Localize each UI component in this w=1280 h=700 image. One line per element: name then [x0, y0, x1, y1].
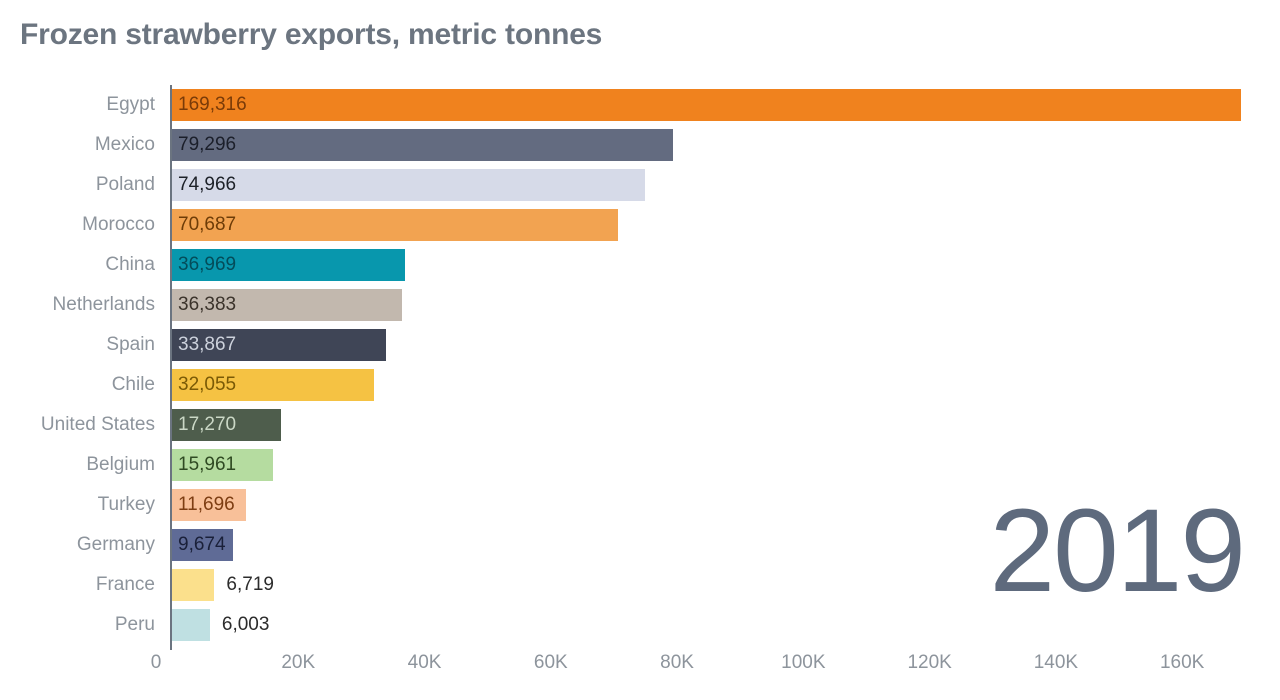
bar-value-label: 33,867 — [178, 329, 236, 361]
bar[interactable] — [172, 129, 673, 161]
bar[interactable] — [172, 169, 645, 201]
bar-value-label: 36,383 — [178, 289, 236, 321]
bar-value-label: 32,055 — [178, 369, 236, 401]
category-label: France — [0, 565, 155, 605]
bar-row[interactable]: China36,969 — [0, 245, 1280, 285]
category-label: Mexico — [0, 125, 155, 165]
x-axis: 020K40K60K80K100K120K140K160K — [0, 652, 1280, 692]
category-label: China — [0, 245, 155, 285]
bar-row[interactable]: Chile32,055 — [0, 365, 1280, 405]
bar-row[interactable]: Spain33,867 — [0, 325, 1280, 365]
bar-value-label: 17,270 — [178, 409, 236, 441]
x-axis-tick: 160K — [1160, 652, 1204, 674]
x-axis-tick: 20K — [281, 652, 315, 674]
bar-row[interactable]: Egypt169,316 — [0, 85, 1280, 125]
page-title: Frozen strawberry exports, metric tonnes — [20, 18, 602, 52]
bar-row[interactable]: Belgium15,961 — [0, 445, 1280, 485]
bar-row[interactable]: Mexico79,296 — [0, 125, 1280, 165]
bar-row[interactable]: Morocco70,687 — [0, 205, 1280, 245]
category-label: Spain — [0, 325, 155, 365]
category-label: Poland — [0, 165, 155, 205]
bar[interactable] — [172, 609, 210, 641]
year-annotation: 2019 — [989, 492, 1244, 610]
category-label: Peru — [0, 605, 155, 645]
category-label: Egypt — [0, 85, 155, 125]
bar[interactable] — [172, 569, 214, 601]
bar[interactable] — [172, 89, 1241, 121]
bar-value-label: 9,674 — [178, 529, 226, 561]
category-label: Belgium — [0, 445, 155, 485]
bar-value-label: 6,003 — [222, 609, 270, 641]
category-label: United States — [0, 405, 155, 445]
x-axis-tick: 100K — [781, 652, 825, 674]
x-axis-tick: 80K — [660, 652, 694, 674]
category-label: Turkey — [0, 485, 155, 525]
category-label: Chile — [0, 365, 155, 405]
bar[interactable] — [172, 209, 618, 241]
x-axis-tick: 0 — [151, 652, 162, 674]
category-label: Netherlands — [0, 285, 155, 325]
category-label: Germany — [0, 525, 155, 565]
y-axis-line — [170, 85, 172, 650]
x-axis-tick: 40K — [408, 652, 442, 674]
bar-value-label: 79,296 — [178, 129, 236, 161]
bar-value-label: 74,966 — [178, 169, 236, 201]
bar-value-label: 70,687 — [178, 209, 236, 241]
category-label: Morocco — [0, 205, 155, 245]
bar-value-label: 11,696 — [178, 489, 235, 521]
bar-value-label: 15,961 — [178, 449, 236, 481]
x-axis-tick: 140K — [1034, 652, 1078, 674]
bar-value-label: 6,719 — [226, 569, 274, 601]
bar-row[interactable]: Poland74,966 — [0, 165, 1280, 205]
bar-value-label: 36,969 — [178, 249, 236, 281]
bar-value-label: 169,316 — [178, 89, 247, 121]
x-axis-tick: 60K — [534, 652, 568, 674]
x-axis-tick: 120K — [907, 652, 951, 674]
bar-row[interactable]: United States17,270 — [0, 405, 1280, 445]
bar-row[interactable]: Netherlands36,383 — [0, 285, 1280, 325]
